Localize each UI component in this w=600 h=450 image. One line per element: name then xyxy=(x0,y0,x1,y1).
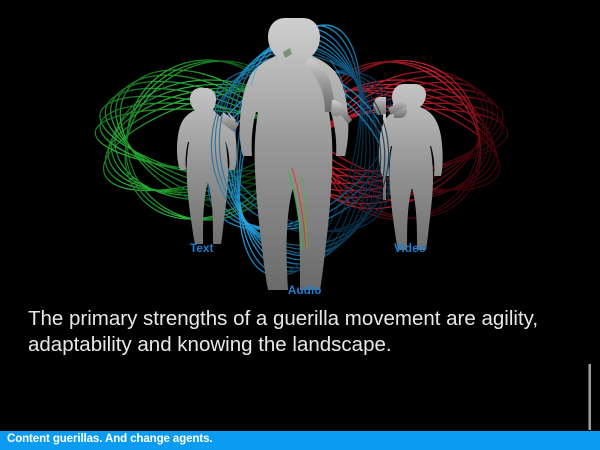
body-line-2: adaptability and knowing the landscape. xyxy=(28,332,580,358)
caption-text: Content guerillas. And change agents. xyxy=(7,433,212,445)
slide-body-text: The primary strengths of a guerilla move… xyxy=(28,306,580,358)
orbital-rings-illustration xyxy=(0,0,600,305)
channel-label-text: Text xyxy=(190,243,214,255)
channel-label-video: Video xyxy=(394,243,426,255)
slide-canvas: Text Audio Video The primary strengths o… xyxy=(0,0,600,450)
hero-graphic xyxy=(0,0,600,305)
caption-bar: Content guerillas. And change agents. xyxy=(0,431,600,450)
body-line-1: The primary strengths of a guerilla move… xyxy=(28,306,580,332)
channel-label-audio: Audio xyxy=(288,285,322,297)
vertical-scroll-sliver[interactable] xyxy=(588,364,591,430)
